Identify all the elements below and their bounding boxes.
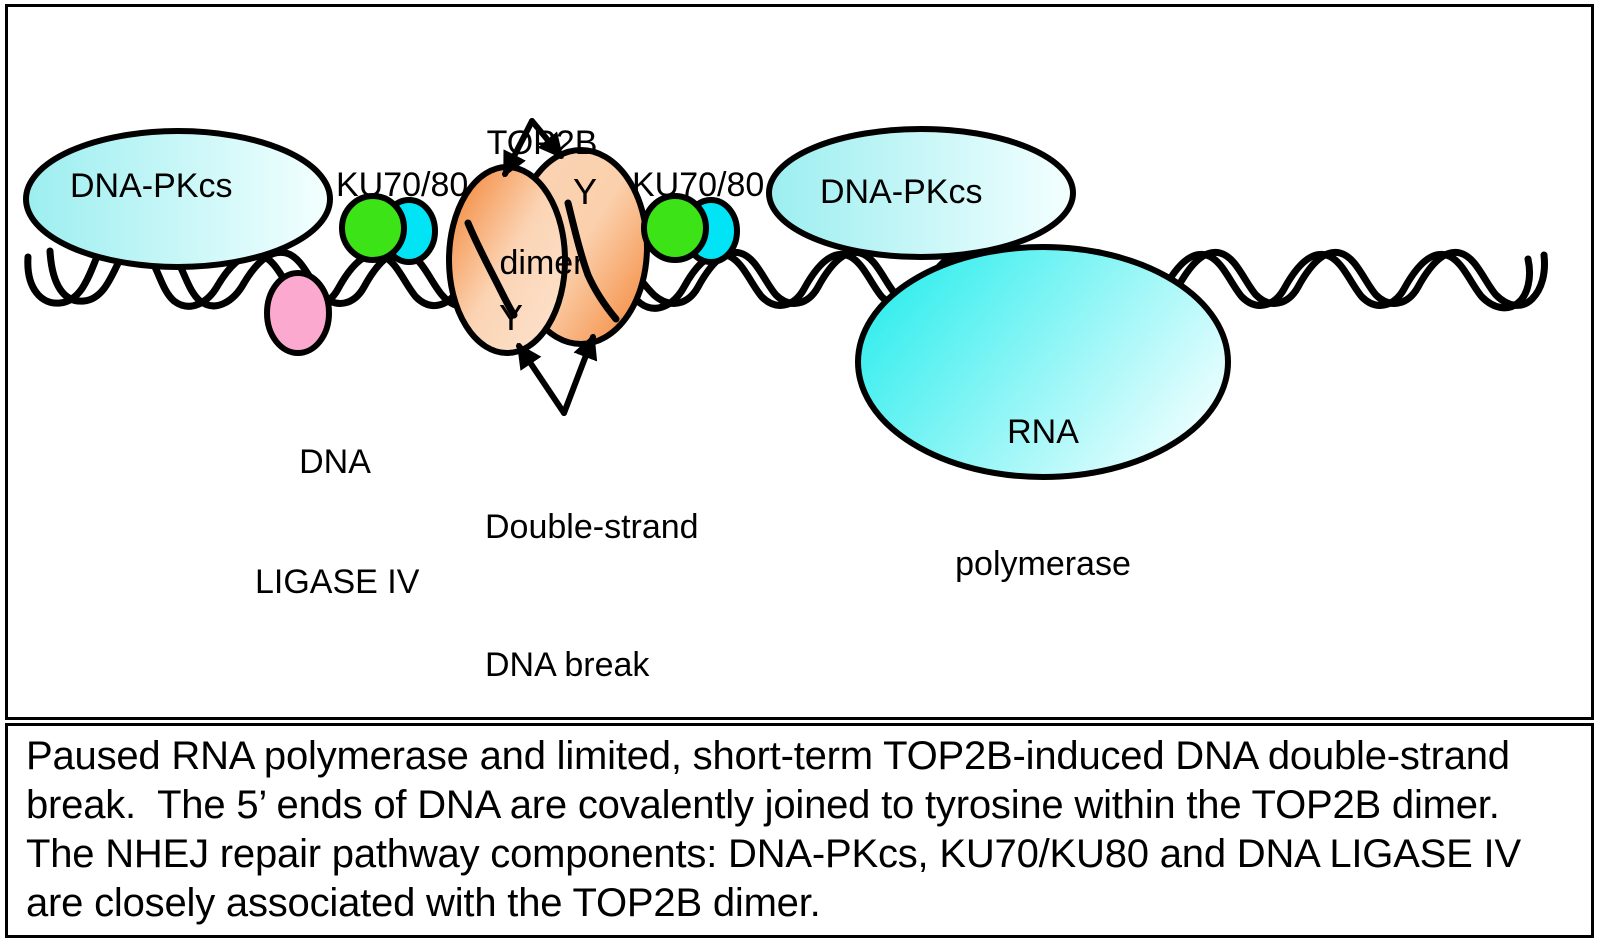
dna-ligase-iv-shape bbox=[267, 273, 329, 353]
top2b-monomer-left-shape bbox=[449, 167, 565, 353]
ku7080-left-shape bbox=[342, 196, 435, 262]
diagram-panel: TOP2B dimer DNA-PKcs KU70/80 KU70/80 DNA… bbox=[5, 4, 1594, 720]
ku7080-right-shape bbox=[644, 196, 737, 262]
diagram-canvas bbox=[8, 7, 1591, 717]
caption-panel: Paused RNA polymerase and limited, short… bbox=[5, 723, 1594, 938]
rna-polymerase-shape bbox=[858, 247, 1228, 477]
figure-caption: Paused RNA polymerase and limited, short… bbox=[26, 732, 1576, 928]
dna-pkcs-left-shape bbox=[26, 131, 330, 267]
figure-root: TOP2B dimer DNA-PKcs KU70/80 KU70/80 DNA… bbox=[0, 0, 1600, 942]
dna-pkcs-right-shape bbox=[769, 129, 1073, 257]
